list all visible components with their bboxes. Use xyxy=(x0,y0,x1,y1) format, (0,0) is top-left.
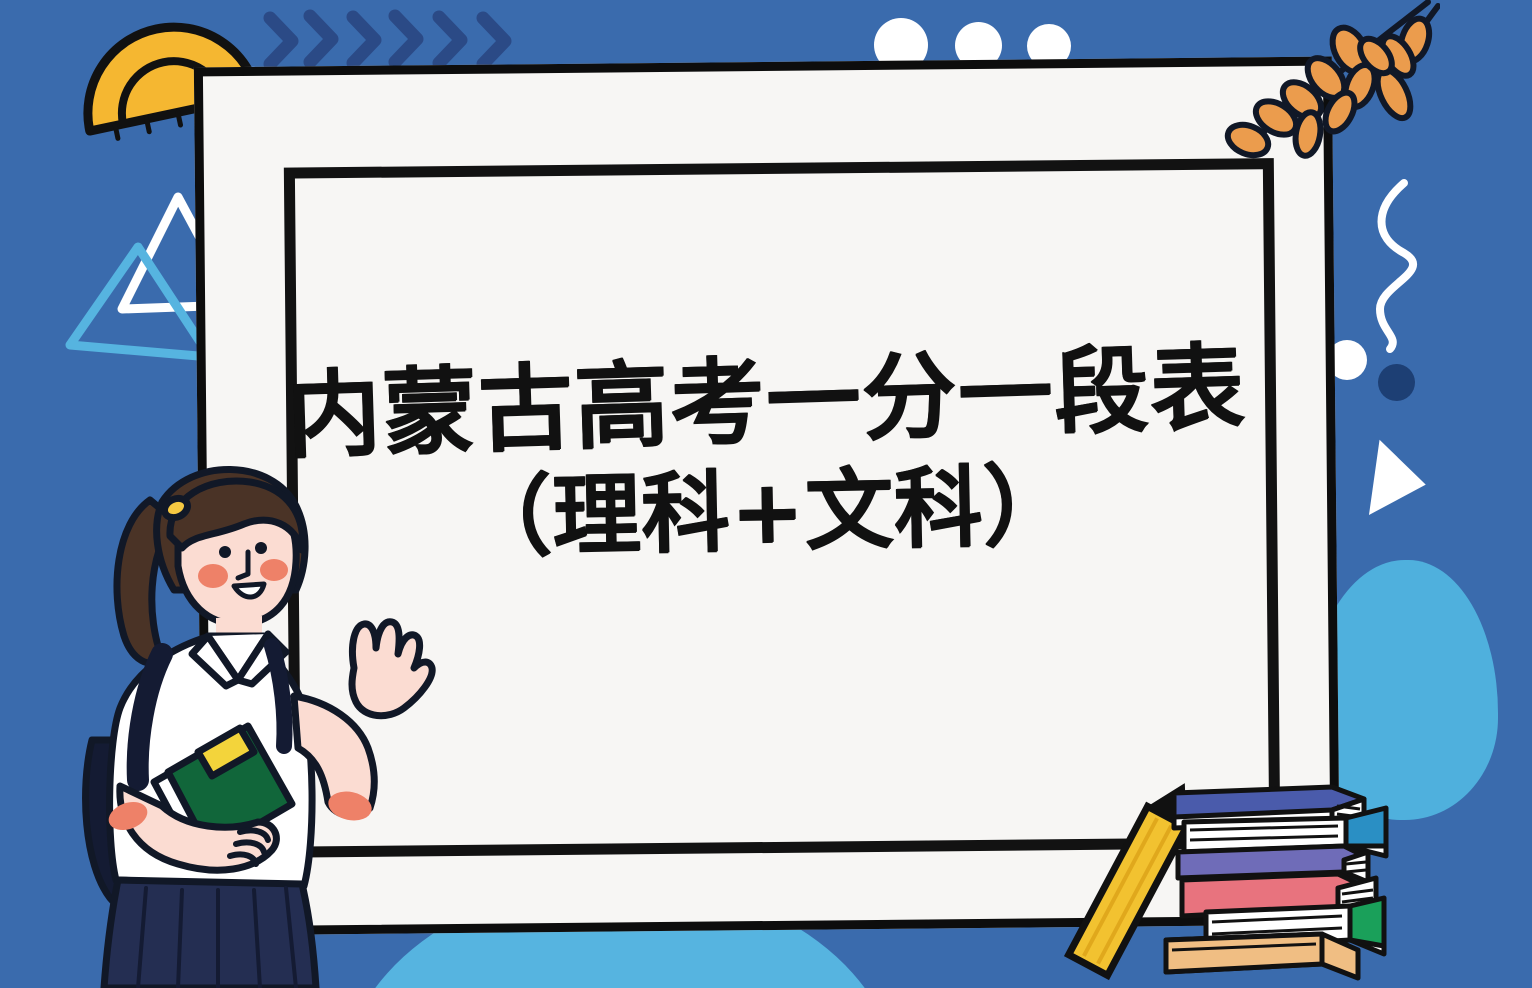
poster-canvas: 内蒙古高考一分一段表 （理科+文科） xyxy=(0,0,1532,988)
leaf-branch-icon xyxy=(1190,0,1440,200)
navy-dot-icon xyxy=(1378,364,1415,401)
book-stack-icon xyxy=(1132,760,1462,988)
white-triangle-icon xyxy=(1369,440,1431,522)
squiggle-icon xyxy=(1360,175,1430,355)
student-girl-illustration xyxy=(58,440,478,988)
